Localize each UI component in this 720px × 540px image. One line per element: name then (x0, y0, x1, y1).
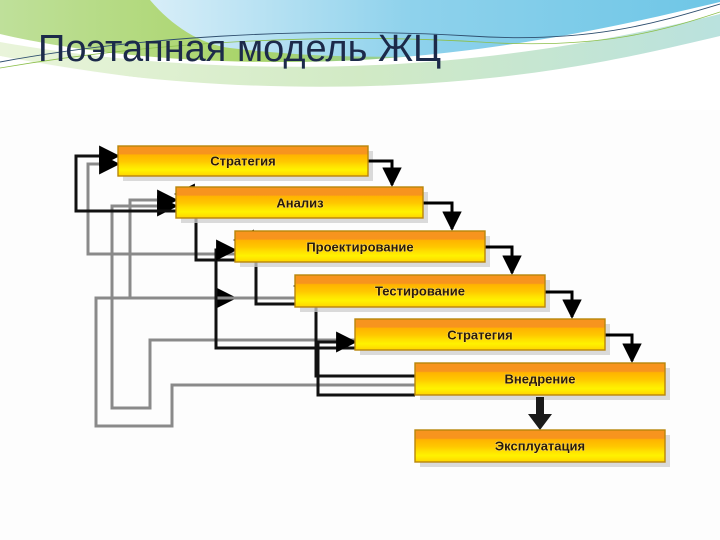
stage-box-analysis[interactable]: Анализ (176, 187, 423, 218)
stage-box-operation[interactable]: Эксплуатация (415, 430, 665, 462)
stage-box-testing[interactable]: Тестирование (295, 275, 545, 307)
stage-box-group: Стратегия Анализ Проектирование Тестиров… (118, 146, 665, 462)
stage-label-testing: Тестирование (375, 283, 465, 298)
stage-label-deployment: Внедрение (505, 371, 576, 386)
wave-fade (0, 86, 720, 110)
stage-label-strategy-2: Стратегия (447, 327, 513, 342)
page-title: Поэтапная модель ЖЦ (38, 30, 698, 70)
stage-box-design[interactable]: Проектирование (235, 231, 485, 262)
stage-label-operation: Эксплуатация (495, 438, 585, 453)
stage-box-deployment[interactable]: Внедрение (415, 363, 665, 395)
stage-box-strategy-2[interactable]: Стратегия (355, 319, 605, 350)
waterfall-lifecycle-diagram: Стратегия Анализ Проектирование Тестиров… (0, 108, 720, 508)
stage-label-strategy-1: Стратегия (210, 153, 276, 168)
stage-label-analysis: Анализ (276, 195, 324, 210)
diagram-container: Стратегия Анализ Проектирование Тестиров… (0, 108, 720, 508)
stage-box-strategy-1[interactable]: Стратегия (118, 146, 368, 176)
slide-canvas: Поэтапная модель ЖЦ (0, 0, 720, 540)
forward-deployment-to-operation (528, 397, 552, 430)
stage-label-design: Проектирование (306, 239, 413, 254)
